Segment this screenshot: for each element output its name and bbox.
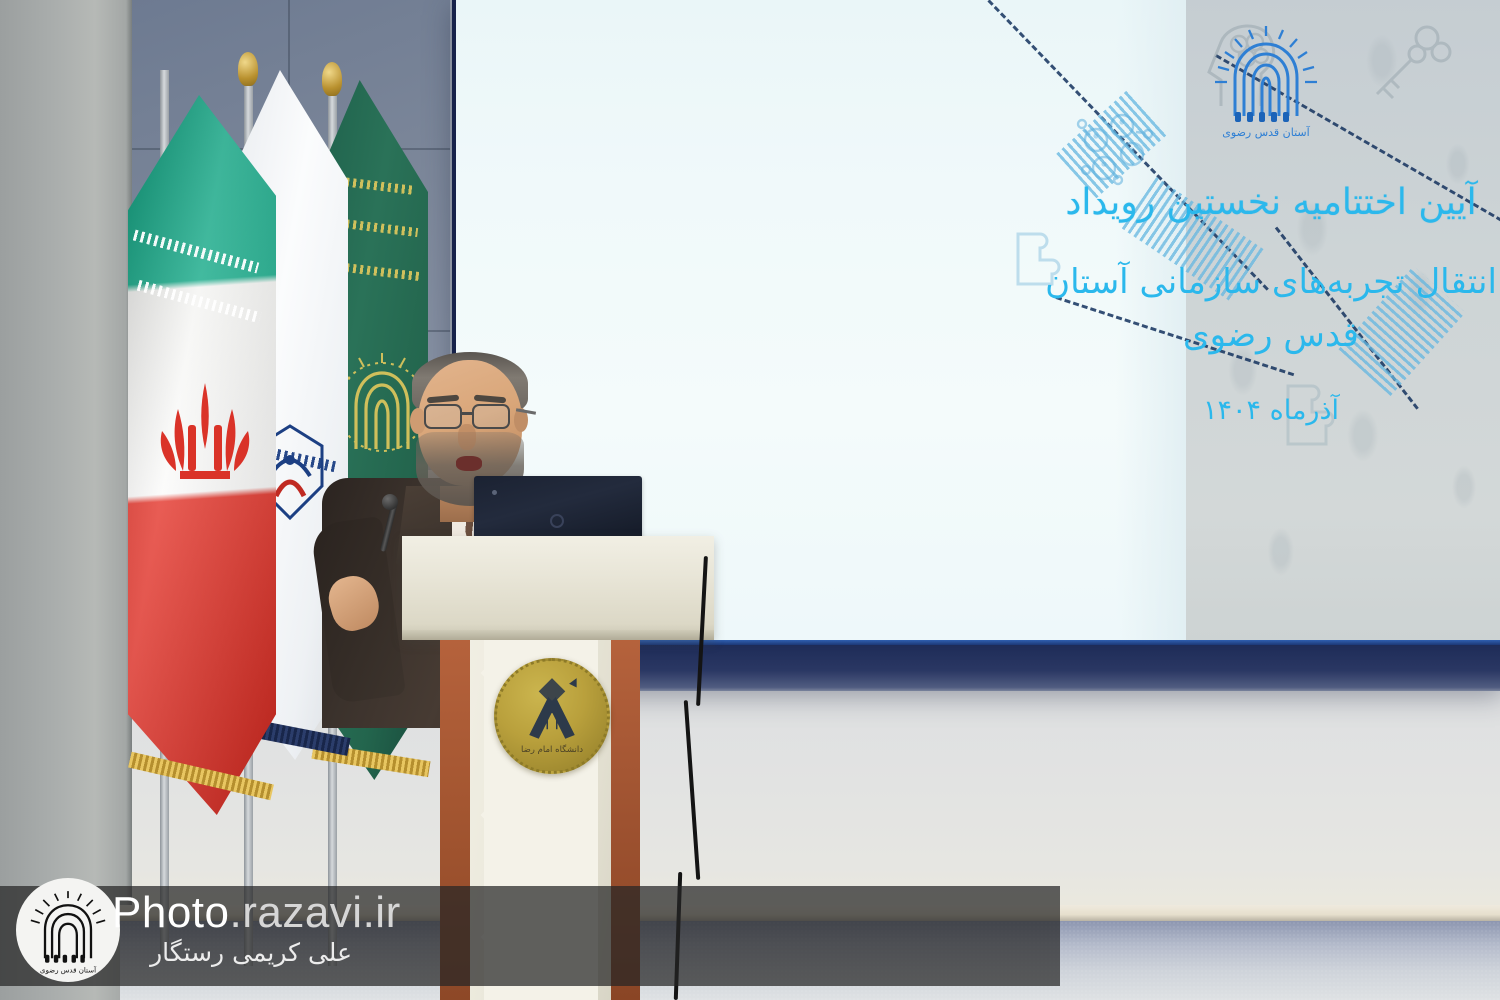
watermark-site-rest: .razavi.ir — [229, 888, 400, 937]
watermark-site-bold: Photo — [112, 888, 229, 937]
watermark-site: Photo.razavi.ir — [112, 888, 401, 938]
speaker-mouth — [456, 456, 482, 471]
slide-date: آذرماه ۱۴۰۴ — [1016, 395, 1500, 426]
eyeglasses-icon — [472, 404, 510, 429]
allah-emblem — [150, 375, 260, 495]
speaker-nose — [458, 424, 476, 450]
microphone-icon — [382, 494, 398, 510]
slide-title-line-2: انتقال تجربه‌های سازمانی آستان قدس رضوی — [1016, 256, 1500, 361]
laptop — [474, 476, 642, 540]
laptop-camera-dot — [492, 490, 497, 495]
seal-caption: آستان قدس رضوی — [40, 965, 97, 974]
left-wall-column — [0, 0, 132, 1000]
astan-quds-razavi-logo: آستان قدس رضوی — [1191, 20, 1341, 140]
slide-title-line-1: آیین اختتامیه نخستین رویداد — [1016, 176, 1500, 230]
podium-desktop — [402, 536, 714, 639]
podium-desktop-edge — [402, 630, 714, 640]
podium-emblem-caption: دانشگاه امام رضا — [521, 744, 583, 755]
watermark-photographer: علی کریمی رستگار — [112, 938, 352, 967]
key-icon — [1361, 18, 1457, 106]
imam-reza-university-emblem: دانشگاه امام رضا — [494, 658, 610, 774]
laptop-logo — [550, 514, 564, 528]
eyeglasses-icon — [424, 404, 462, 429]
eyeglasses-bridge — [462, 412, 474, 415]
slide-logo-caption: آستان قدس رضوی — [1222, 125, 1310, 139]
lattice-cell — [514, 836, 570, 892]
flag-finial — [322, 62, 342, 96]
slide-text-block: آیین اختتامیه نخستین رویداد انتقال تجربه… — [1016, 176, 1500, 426]
photograph-canvas: آستان قدس رضوی آیین اختتامیه نخستین روید… — [0, 0, 1500, 1000]
astan-quds-razavi-seal: آستان قدس رضوی — [16, 878, 120, 982]
flag-finial — [238, 52, 258, 86]
